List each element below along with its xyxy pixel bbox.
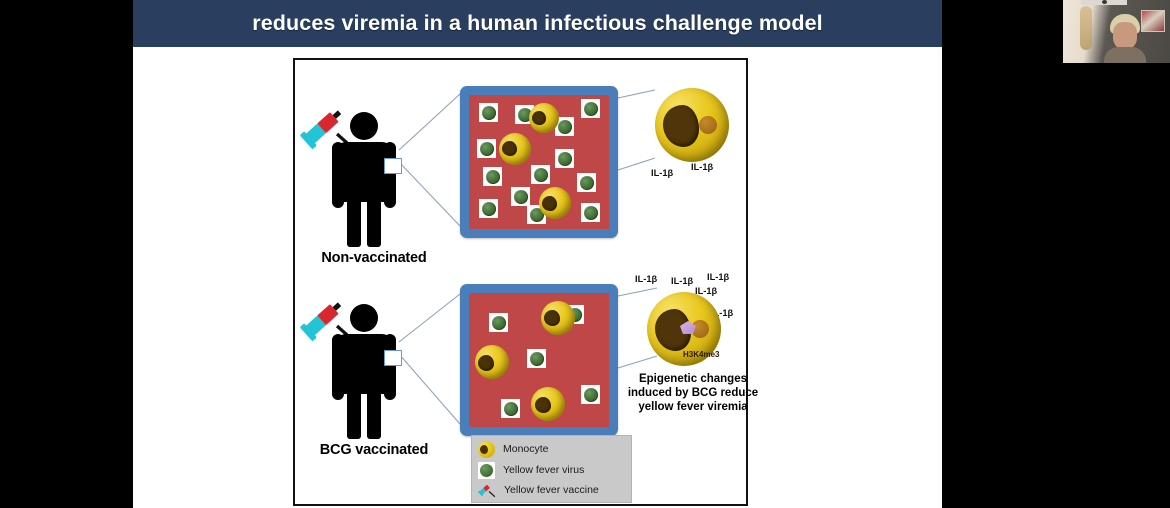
virus-particle: [479, 199, 498, 218]
webcam-thumbnail[interactable]: [1063, 0, 1170, 63]
virus-particle: [501, 399, 520, 418]
slide-title: reduces viremia in a human infectious ch…: [133, 0, 942, 47]
monocyte: [541, 301, 575, 335]
legend-label: Yellow fever vaccine: [504, 484, 599, 496]
screen: reduces viremia in a human infectious ch…: [0, 0, 1170, 508]
virus-particle: [555, 149, 574, 168]
cytokine-label: IL-1β: [691, 162, 713, 172]
cytokine-label: IL-1β: [651, 168, 673, 178]
legend-item-vaccine: Yellow fever vaccine: [478, 480, 599, 500]
slide-title-bar: reduces viremia in a human infectious ch…: [133, 0, 942, 47]
person-figure-bcg-vaccinated: BCG vaccinated: [299, 288, 419, 448]
monocyte-icon: [478, 441, 495, 458]
webcam-lens-icon: [1102, 0, 1107, 4]
panel-bcg-vaccinated: BCG vaccinated: [295, 272, 750, 462]
presentation-slide: reduces viremia in a human infectious ch…: [133, 0, 942, 508]
virus-particle: [581, 99, 600, 118]
caption-line: Epigenetic changes: [623, 372, 763, 386]
tissue-box-non-vaccinated: [460, 86, 618, 238]
virus-particle: [483, 167, 502, 186]
person-icon: [332, 304, 396, 439]
virus-particle: [489, 313, 508, 332]
legend-item-virus: Yellow fever virus: [478, 460, 584, 480]
cytokine-label: IL-1β: [707, 272, 729, 282]
virus-particle: [577, 173, 596, 192]
syringe-icon: [478, 481, 496, 499]
virus-particle: [581, 385, 600, 404]
arm-injection-site: [384, 350, 402, 366]
webcam-lamp: [1080, 6, 1092, 50]
caption-line: yellow fever viremia: [623, 400, 763, 414]
monocyte: [529, 103, 559, 133]
virus-particle: [479, 103, 498, 122]
person-icon: [332, 112, 396, 247]
monocyte: [475, 345, 509, 379]
panel-non-vaccinated: Non-vaccinated: [295, 80, 750, 270]
monocyte: [531, 387, 565, 421]
monocyte-magnified: [655, 88, 729, 162]
figure-frame: Non-vaccinated: [293, 58, 748, 506]
legend-label: Yellow fever virus: [503, 464, 584, 476]
monocyte: [539, 187, 571, 219]
cytokine-label: IL-1β: [671, 276, 693, 286]
panel-label-non-vaccinated: Non-vaccinated: [299, 250, 449, 266]
virus-icon: [478, 462, 495, 479]
person-figure-non-vaccinated: Non-vaccinated: [299, 96, 419, 256]
legend-label: Monocyte: [503, 443, 549, 455]
epigenetic-mark-label: H3K4me3: [683, 350, 719, 359]
virus-particle: [477, 139, 496, 158]
virus-particle: [527, 349, 546, 368]
webcam-speaker: [1105, 14, 1145, 63]
caption-line: induced by BCG reduce: [623, 386, 763, 400]
zoom-cell-non-vaccinated: IL-1β IL-1β: [647, 84, 737, 194]
panel-caption: Epigenetic changes induced by BCG reduce…: [623, 372, 763, 414]
virus-particle: [531, 165, 550, 184]
tissue-box-bcg-vaccinated: [460, 284, 618, 436]
legend-item-monocyte: Monocyte: [478, 439, 549, 459]
virus-particle: [511, 187, 530, 206]
cytokine-label: IL-1β: [635, 274, 657, 284]
zoom-cell-bcg-vaccinated: IL-1β IL-1β IL-1β IL-1β IL-1β H3K4me3 Ep…: [633, 272, 751, 402]
virus-particle: [581, 203, 600, 222]
monocyte: [499, 133, 531, 165]
panel-label-bcg-vaccinated: BCG vaccinated: [299, 442, 449, 458]
arm-injection-site: [384, 158, 402, 174]
figure-legend: Monocyte Yellow fever virus: [471, 435, 632, 503]
